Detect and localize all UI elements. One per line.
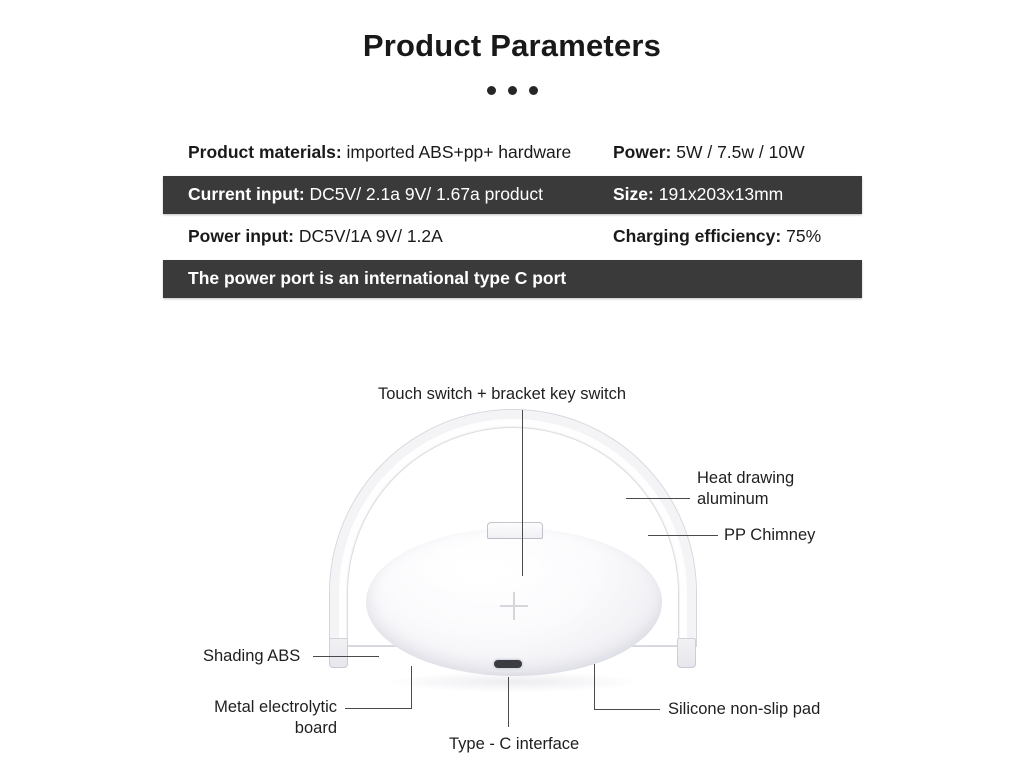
- spec-cell-right: Size: 191x203x13mm: [613, 186, 783, 204]
- spec-value: DC5V/ 2.1a 9V/ 1.67a product: [310, 184, 543, 204]
- page-title: Product Parameters: [0, 28, 1024, 64]
- leader-metal-electrolytic-board-h: [345, 708, 412, 709]
- callout-line-1: Heat drawing: [697, 469, 794, 487]
- callout-line-1: Metal electrolytic: [214, 698, 337, 716]
- callout-metal-electrolytic-board: Metal electrolytic board: [193, 697, 337, 739]
- spec-value: DC5V/1A 9V/ 1.2A: [299, 226, 443, 246]
- title-dot-2: [508, 86, 517, 95]
- crosshair-vertical: [513, 592, 515, 620]
- touch-switch-tab[interactable]: [487, 522, 543, 539]
- spec-label: Power:: [613, 142, 671, 162]
- leader-metal-electrolytic-board-v: [411, 666, 412, 709]
- callout-type-c-interface: Type - C interface: [449, 734, 579, 755]
- base-disc-highlight: [396, 538, 566, 602]
- callout-heat-drawing-aluminum: Heat drawing aluminum: [697, 468, 827, 510]
- base-drop-shadow: [388, 672, 640, 692]
- specification-table: Product materials: imported ABS+pp+ hard…: [163, 134, 862, 298]
- product-diagram: Touch switch + bracket key switch Heat d…: [0, 372, 1024, 768]
- callout-line-2: aluminum: [697, 490, 769, 508]
- product-parameters-page: Product Parameters Product materials: im…: [0, 0, 1024, 768]
- leader-silicone-pad-v: [594, 664, 595, 710]
- leader-shading-abs: [313, 656, 379, 657]
- spec-note-text: The power port is an international type …: [188, 270, 566, 288]
- spec-row: Power input: DC5V/1A 9V/ 1.2A Charging e…: [163, 218, 862, 256]
- spec-cell-left: Current input: DC5V/ 2.1a 9V/ 1.67a prod…: [188, 186, 543, 204]
- spec-label: Size:: [613, 184, 654, 204]
- spec-cell-left: Power input: DC5V/1A 9V/ 1.2A: [188, 228, 443, 246]
- callout-silicone-pad: Silicone non-slip pad: [668, 699, 820, 720]
- charging-coil-crosshair-icon: [500, 592, 528, 620]
- callout-shading-abs: Shading ABS: [203, 646, 300, 667]
- leader-touch-switch: [522, 410, 523, 576]
- leader-pp-chimney: [648, 535, 718, 536]
- leader-heat-drawing-aluminum: [626, 498, 690, 499]
- spec-value: 75%: [786, 226, 821, 246]
- product-illustration: [318, 410, 708, 730]
- leader-type-c-interface: [508, 677, 509, 727]
- spec-label: Product materials:: [188, 142, 342, 162]
- title-dot-1: [487, 86, 496, 95]
- spec-label: Charging efficiency:: [613, 226, 781, 246]
- spec-label: Current input:: [188, 184, 305, 204]
- callout-touch-switch: Touch switch + bracket key switch: [378, 384, 626, 405]
- title-dot-3: [529, 86, 538, 95]
- spec-label: Power input:: [188, 226, 294, 246]
- spec-cell-left: Product materials: imported ABS+pp+ hard…: [188, 144, 571, 162]
- spec-row: Current input: DC5V/ 2.1a 9V/ 1.67a prod…: [163, 176, 862, 214]
- callout-line-2: board: [295, 719, 337, 737]
- spec-value: 5W / 7.5w / 10W: [676, 142, 804, 162]
- spec-cell-right: Power: 5W / 7.5w / 10W: [613, 144, 805, 162]
- callout-pp-chimney: PP Chimney: [724, 525, 815, 546]
- spec-value: imported ABS+pp+ hardware: [347, 142, 572, 162]
- title-dots-decoration: [0, 86, 1024, 95]
- arch-foot-left: [329, 638, 348, 668]
- type-c-port: [494, 660, 522, 668]
- leader-silicone-pad-h: [594, 709, 660, 710]
- arch-foot-right: [677, 638, 696, 668]
- spec-row: Product materials: imported ABS+pp+ hard…: [163, 134, 862, 172]
- spec-value: 191x203x13mm: [659, 184, 784, 204]
- spec-cell-right: Charging efficiency: 75%: [613, 228, 821, 246]
- spec-row-note: The power port is an international type …: [163, 260, 862, 298]
